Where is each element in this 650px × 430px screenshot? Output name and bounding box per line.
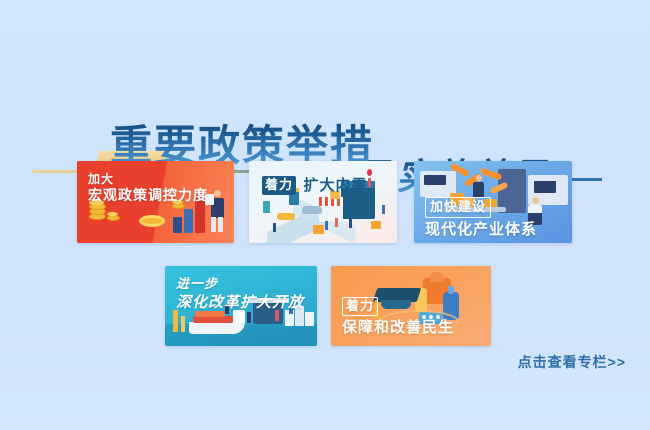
card-modern-industry-line2: 现代化产业体系	[425, 220, 537, 239]
card-reform-opening-line1: 进一步	[176, 276, 304, 293]
card-modern-industry[interactable]: 加快建设 现代化产业体系	[414, 161, 572, 243]
card-livelihood-label: 着力 保障和改善民生	[342, 296, 454, 338]
card-domestic-demand[interactable]: 着力 扩大内需	[249, 161, 397, 243]
card-livelihood-line2: 保障和改善民生	[342, 318, 454, 337]
card-domestic-demand-line2: 扩大内需	[303, 176, 367, 195]
card-reform-opening[interactable]: 进一步 深化改革扩大开放	[165, 266, 317, 346]
card-macro-policy-line2: 宏观政策调控力度	[88, 187, 208, 205]
card-reform-opening-line2: 深化改革扩大开放	[176, 293, 304, 312]
policy-banner: 重要政策举措 及实施效果	[0, 0, 650, 430]
domestic-demand-illustration	[249, 161, 397, 243]
card-livelihood[interactable]: 着力 保障和改善民生	[331, 266, 491, 346]
view-column-link[interactable]: 点击查看专栏>>	[518, 352, 626, 372]
card-reform-opening-label: 进一步 深化改革扩大开放	[176, 276, 304, 312]
card-domestic-demand-label: 着力 扩大内需	[262, 175, 367, 196]
card-modern-industry-line1: 加快建设	[425, 197, 491, 218]
card-macro-policy-label: 加大 宏观政策调控力度	[88, 172, 208, 205]
card-macro-policy[interactable]: 加大 宏观政策调控力度	[77, 161, 234, 243]
card-domestic-demand-chip: 着力	[262, 176, 296, 195]
card-livelihood-chip: 着力	[342, 297, 378, 316]
card-modern-industry-label: 加快建设 现代化产业体系	[425, 197, 537, 239]
card-macro-policy-line1: 加大	[88, 172, 208, 187]
